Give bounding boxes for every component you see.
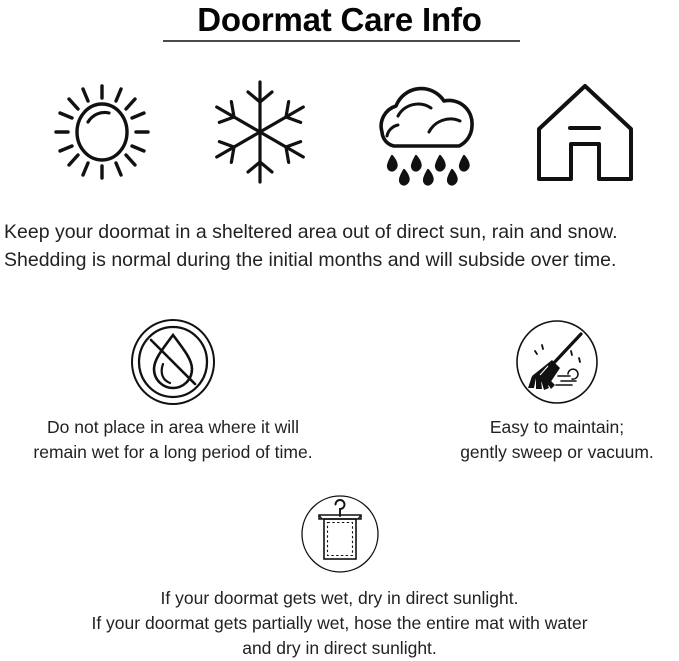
care-item-broom: Easy to maintain; gently sweep or vacuum…: [397, 318, 679, 465]
drying-line-1: If your doormat gets wet, dry in direct …: [0, 586, 679, 611]
title-underline-rule: [163, 40, 520, 42]
broom-line-2: gently sweep or vacuum.: [397, 440, 679, 465]
care-item-broom-caption: Easy to maintain; gently sweep or vacuum…: [397, 415, 679, 465]
sun-icon: [32, 72, 172, 202]
drying-line-3: and dry in direct sunlight.: [0, 636, 679, 661]
care-items-row: Do not place in area where it will remai…: [0, 318, 679, 468]
rain-cloud-icon: [352, 72, 492, 202]
intro-line-1: Keep your doormat in a sheltered area ou…: [4, 218, 679, 246]
drying-line-2: If your doormat gets partially wet, hose…: [0, 611, 679, 636]
no-water-line-1: Do not place in area where it will: [13, 415, 333, 440]
hang-dry-icon: [300, 494, 380, 574]
weather-icon-row: [0, 72, 679, 202]
intro-paragraph: Keep your doormat in a sheltered area ou…: [4, 218, 679, 274]
snowflake-icon: [190, 72, 330, 202]
page-title: Doormat Care Info: [0, 0, 679, 39]
no-water-line-2: remain wet for a long period of time.: [13, 440, 333, 465]
drying-caption: If your doormat gets wet, dry in direct …: [0, 586, 679, 661]
house-icon: [515, 72, 655, 202]
intro-line-2: Shedding is normal during the initial mo…: [4, 246, 679, 274]
care-item-no-water-caption: Do not place in area where it will remai…: [13, 415, 333, 465]
page-title-block: Doormat Care Info: [0, 0, 679, 39]
broom-line-1: Easy to maintain;: [397, 415, 679, 440]
care-item-no-water: Do not place in area where it will remai…: [13, 318, 333, 465]
drying-section: If your doormat gets wet, dry in direct …: [0, 494, 679, 661]
